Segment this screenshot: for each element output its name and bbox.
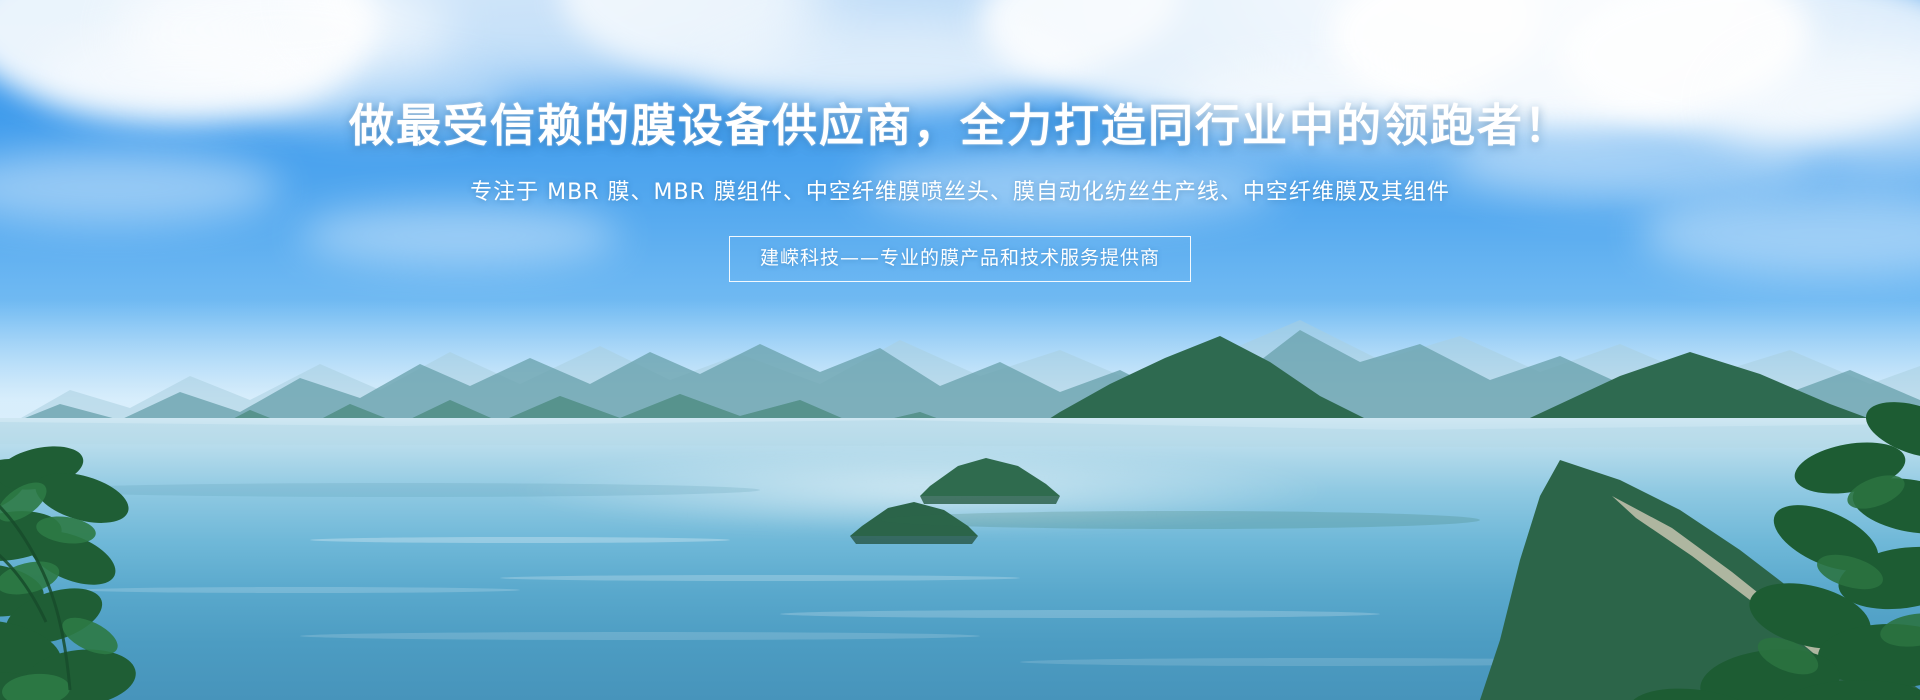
banner-subheadline: 专注于 MBR 膜、MBR 膜组件、中空纤维膜喷丝头、膜自动化纺丝生产线、中空纤… xyxy=(0,152,1920,208)
banner-tagline: 建嵘科技——专业的膜产品和技术服务提供商 xyxy=(729,236,1191,282)
tagline-container: 建嵘科技——专业的膜产品和技术服务提供商 xyxy=(0,236,1920,282)
hero-copy: 做最受信赖的膜设备供应商，全力打造同行业中的领跑者！ 专注于 MBR 膜、MBR… xyxy=(0,0,1920,282)
banner-headline: 做最受信赖的膜设备供应商，全力打造同行业中的领跑者！ xyxy=(0,0,1920,152)
hero-banner: 做最受信赖的膜设备供应商，全力打造同行业中的领跑者！ 专注于 MBR 膜、MBR… xyxy=(0,0,1920,700)
foreground-foliage-left xyxy=(0,390,300,700)
foreground-foliage-right xyxy=(1520,310,1920,700)
